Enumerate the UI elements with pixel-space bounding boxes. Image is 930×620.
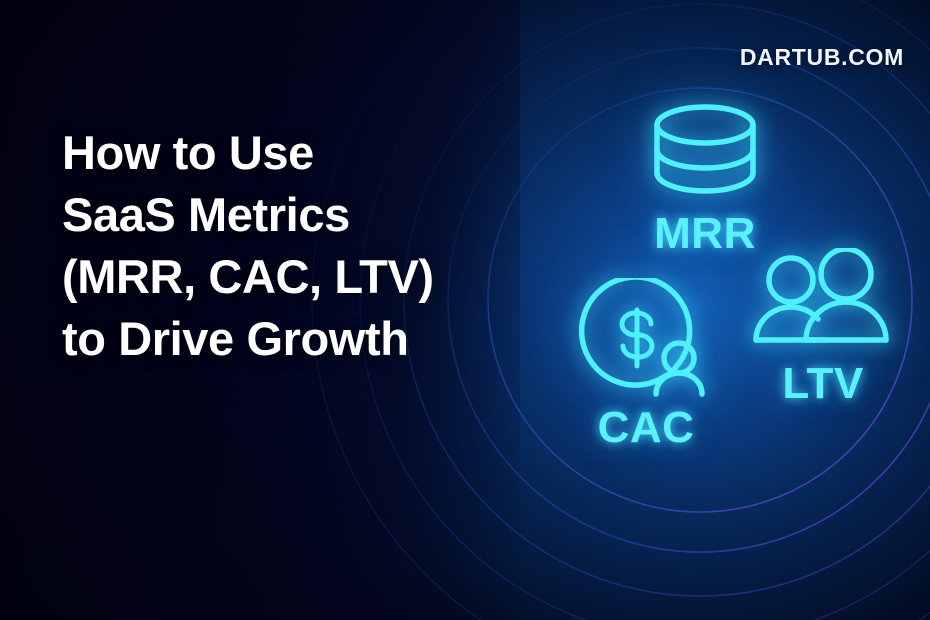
title-line-3: (MRR, CAC, LTV) bbox=[62, 246, 512, 308]
metric-ltv-label: LTV bbox=[748, 359, 898, 409]
metric-cac: CAC bbox=[566, 278, 726, 453]
page-title: How to Use SaaS Metrics (MRR, CAC, LTV) … bbox=[62, 122, 512, 370]
two-people-icon bbox=[748, 248, 898, 361]
metric-mrr: MRR bbox=[612, 100, 798, 259]
title-line-1: How to Use bbox=[62, 122, 512, 184]
metric-cac-label: CAC bbox=[566, 403, 726, 453]
metric-ltv: LTV bbox=[748, 248, 898, 409]
title-line-2: SaaS Metrics bbox=[62, 184, 512, 246]
title-line-4: to Drive Growth bbox=[62, 308, 512, 370]
database-cylinder-icon bbox=[612, 100, 798, 205]
banner-canvas: DARTUB.COM How to Use SaaS Metrics (MRR,… bbox=[0, 0, 930, 620]
dollar-circle-person-icon bbox=[566, 278, 726, 403]
brand-wordmark: DARTUB.COM bbox=[740, 44, 904, 71]
